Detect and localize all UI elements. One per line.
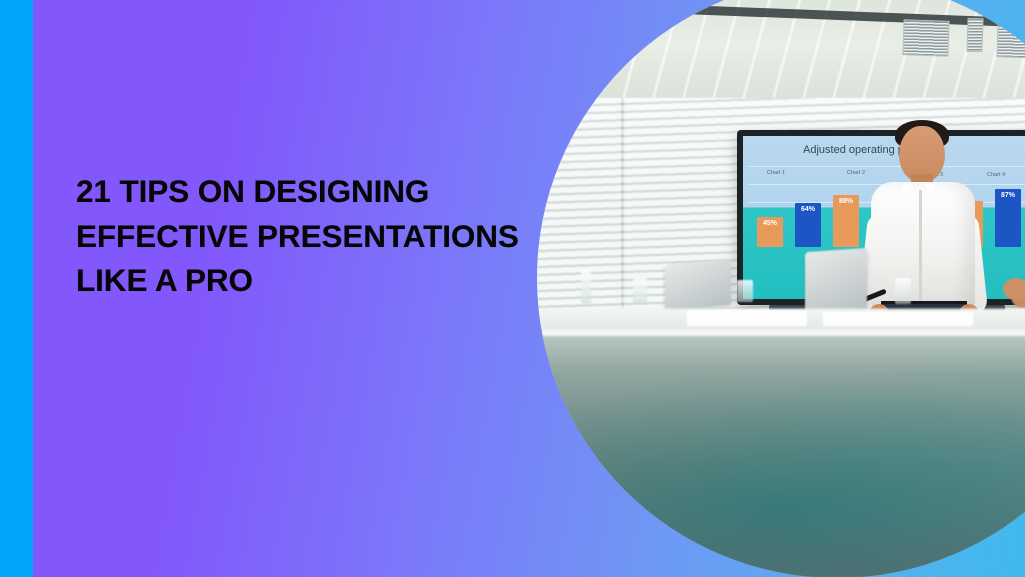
paper-document bbox=[823, 312, 973, 326]
blog-header-banner: 21 Tips on Designing Effective Presentat… bbox=[0, 0, 1025, 577]
drinking-glass bbox=[737, 280, 753, 302]
presenter-collar bbox=[903, 184, 913, 200]
presenter-shirt bbox=[871, 182, 975, 308]
presenter-collar bbox=[925, 184, 935, 200]
wall-mullion bbox=[621, 98, 624, 328]
hero-photo-circle-mask: Adjusted operating pr Chart 1 Chart 2 Ch… bbox=[537, 0, 1025, 577]
chart-category-label: Chart 1 bbox=[767, 170, 785, 176]
ceiling-vent-icon bbox=[902, 19, 949, 57]
paper-document bbox=[687, 310, 807, 326]
seated-hand bbox=[1003, 278, 1025, 300]
page-title: 21 Tips on Designing Effective Presentat… bbox=[76, 169, 596, 303]
chart-bar: 45% bbox=[757, 217, 783, 247]
conference-table-surface bbox=[537, 336, 1025, 577]
chart-bar: 64% bbox=[795, 203, 821, 247]
office-presentation-photo: Adjusted operating pr Chart 1 Chart 2 Ch… bbox=[537, 0, 1025, 577]
laptop bbox=[665, 259, 731, 312]
laptop bbox=[805, 248, 867, 314]
ceiling-vent-icon bbox=[996, 21, 1025, 59]
chart-bar: 88% bbox=[833, 195, 859, 247]
left-accent-strip bbox=[0, 0, 33, 577]
drinking-glass bbox=[895, 278, 911, 304]
drinking-glass bbox=[633, 278, 647, 304]
presenter-shirt-placket bbox=[919, 190, 922, 302]
ceiling-vent-icon bbox=[966, 18, 983, 53]
